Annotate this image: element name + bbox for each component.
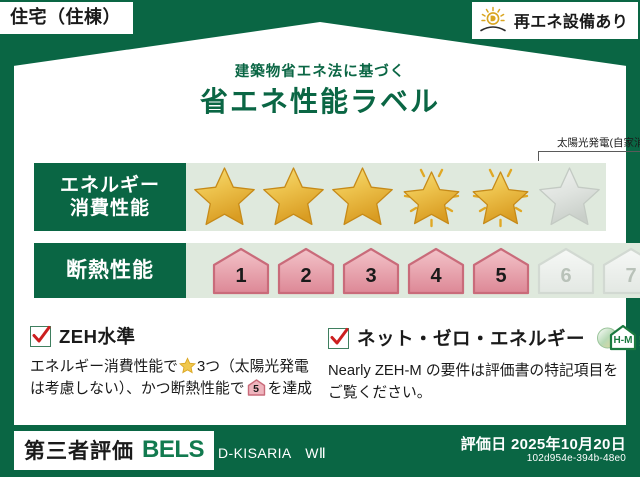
sun-icon (478, 6, 508, 34)
insulation-label-text: 断熱性能 (66, 258, 154, 284)
zeh-criteria-title: ZEH水準 (59, 323, 136, 349)
grade-badge-6: 6 (535, 246, 597, 296)
grade-badge-5: 5 (470, 246, 532, 296)
star-5-solar (466, 164, 535, 230)
net-zero-criteria-header: ネット・ゼロ・エネルギー H-M Nearly ZEH-M (328, 323, 624, 353)
star-3 (328, 164, 397, 230)
evaluation-date: 評価日 2025年10月20日 (461, 433, 626, 454)
label-subtitle: 建築物省エネ法に基づく (0, 60, 640, 81)
energy-label-line1: エネルギー (60, 174, 160, 197)
grade-badge-4: 4 (405, 246, 467, 296)
zeh-m-logo-icon: H-M Nearly ZEH-M (595, 323, 640, 353)
insulation-performance-row: 断熱性能 1 2 (34, 243, 606, 298)
bels-badge: 第三者評価 BELS (14, 431, 214, 470)
grade-badge-1: 1 (210, 246, 272, 296)
zeh-body-part2: は考慮しない）、かつ断熱性能で (30, 381, 245, 397)
grade-badge-3-value: 3 (340, 265, 402, 288)
insulation-performance-label: 断熱性能 (34, 243, 186, 298)
renewable-badge-label: 再エネ設備あり (514, 8, 628, 32)
star-4-solar (397, 164, 466, 230)
zeh-checkbox (30, 326, 51, 347)
grade-badge-6-value: 6 (535, 265, 597, 288)
building-name: D-KISARIA WⅡ (218, 443, 326, 463)
building-type-badge: 住宅（住棟） (0, 2, 133, 34)
grade-badges-container: 1 2 3 (186, 246, 640, 296)
label-main-title: 省エネ性能ラベル (0, 80, 640, 120)
building-type-label: 住宅（住棟） (10, 7, 121, 27)
grade-badge-1-value: 1 (210, 265, 272, 288)
bels-logo-text: BELS (142, 436, 204, 464)
evaluation-id: 102d954e-394b-48e0 (527, 453, 626, 464)
net-zero-criteria-title: ネット・ゼロ・エネルギー (357, 325, 585, 351)
energy-performance-row: エネルギー 消費性能 (34, 163, 606, 231)
insulation-grade-scale: 1 2 3 (186, 243, 640, 298)
net-zero-checkbox (328, 328, 349, 349)
grade-badge-2-value: 2 (275, 265, 337, 288)
grade-badge-5-value: 5 (470, 265, 532, 288)
energy-performance-label: 住宅（住棟） 再エネ設備あり 建築物省エネ法に基づく 省エ (0, 0, 640, 477)
energy-label-line2: 消費性能 (70, 197, 150, 220)
zeh-criteria-header: ZEH水準 (30, 323, 320, 349)
stars-container (186, 164, 606, 230)
grade-badge-4-value: 4 (405, 265, 467, 288)
grade-badge-7-value: 7 (600, 265, 640, 288)
net-zero-criteria-block: ネット・ゼロ・エネルギー H-M Nearly ZEH-M Nearly ZEH… (328, 323, 624, 405)
zeh-body-part1: エネルギー消費性能で (30, 359, 178, 375)
net-zero-criteria-body: Nearly ZEH-M の要件は評価書の特記項目をご覧ください。 (328, 360, 624, 405)
grade-badge-2: 2 (275, 246, 337, 296)
zeh-criteria-body: エネルギー消費性能で 3つ（太陽光発電 は考慮しない）、かつ断熱性能で 5 を達… (30, 356, 320, 401)
star-6-empty (535, 164, 604, 230)
zeh-criteria-block: ZEH水準 エネルギー消費性能で 3つ（太陽光発電 は考慮しない）、かつ断熱性能… (30, 323, 320, 401)
zeh-body-star-count: 3つ（太陽光発電 (197, 359, 309, 375)
inline-star-icon (179, 357, 196, 374)
renewable-energy-badge: 再エネ設備あり (472, 2, 638, 39)
zeh-body-part3: を達成 (268, 381, 312, 397)
star-2 (259, 164, 328, 230)
grade-badge-7: 7 (600, 246, 640, 296)
energy-star-rating: 太陽光発電(自家消費)分 (186, 163, 606, 231)
label-footer: 第三者評価 BELS D-KISARIA WⅡ 評価日 2025年10月20日 … (0, 425, 640, 477)
third-party-eval-label: 第三者評価 (24, 435, 134, 465)
grade-badge-3: 3 (340, 246, 402, 296)
inline-grade-value: 5 (247, 382, 266, 398)
star-1 (190, 164, 259, 230)
svg-text:H-M: H-M (614, 335, 633, 346)
energy-performance-label: エネルギー 消費性能 (34, 163, 186, 231)
inline-grade-badge: 5 (247, 379, 266, 396)
